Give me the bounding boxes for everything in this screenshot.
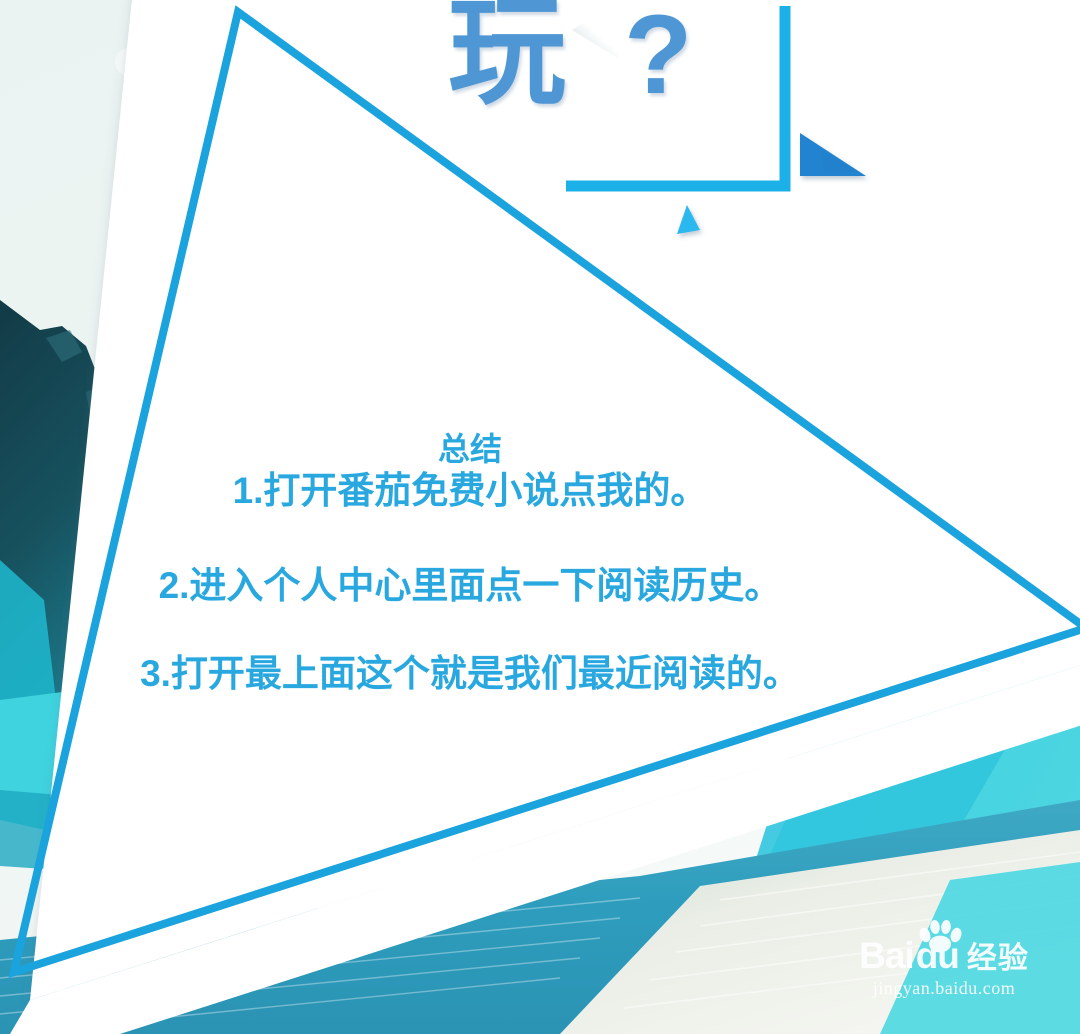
spacer-1 bbox=[140, 511, 800, 565]
headline-character: 玩 bbox=[448, 0, 568, 119]
step-3: 3.打开最上面这个就是我们最近阅读的。 bbox=[140, 653, 800, 694]
baidu-watermark: Bai du 经验 jingyan.baidu.com bbox=[828, 928, 1060, 999]
headline: 玩? bbox=[448, 0, 694, 112]
watermark-bai: Bai bbox=[859, 937, 914, 974]
summary-title: 总结 bbox=[140, 432, 800, 468]
poster-canvas: 玩? 总结 1.打开番茄免费小说点我的。 2.进入个人中心里面点一下阅读历史。 … bbox=[0, 0, 1080, 1034]
step-1: 1.打开番茄免费小说点我的。 bbox=[140, 470, 800, 511]
instruction-block: 总结 1.打开番茄免费小说点我的。 2.进入个人中心里面点一下阅读历史。 3.打… bbox=[140, 432, 800, 694]
headline-question-mark: ? bbox=[568, 0, 694, 117]
step-2: 2.进入个人中心里面点一下阅读历史。 bbox=[140, 565, 800, 606]
spacer-2 bbox=[140, 607, 800, 653]
watermark-cn: 经验 bbox=[967, 944, 1029, 974]
watermark-brand-row: Bai du 经验 bbox=[828, 928, 1060, 974]
paw-print-icon bbox=[918, 919, 962, 953]
watermark-url: jingyan.baidu.com bbox=[828, 978, 1060, 999]
